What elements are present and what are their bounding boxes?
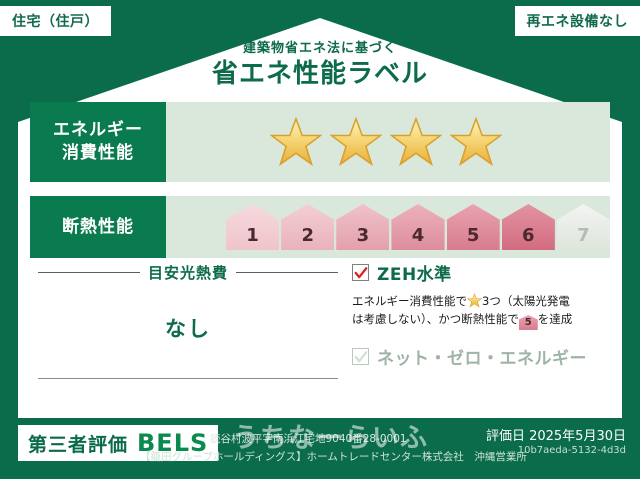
star-icon xyxy=(450,116,502,168)
evaluation-date: 評価日 2025年5月30日 xyxy=(486,425,626,444)
star-icon xyxy=(270,116,322,168)
rule-right xyxy=(236,272,338,273)
insulation-grade-item: 4 xyxy=(391,204,444,250)
insulation-grade-item: 2 xyxy=(281,204,334,250)
title-subtitle: 建築物省エネ法に基づく xyxy=(0,40,640,58)
rule-left xyxy=(38,272,140,273)
badge-building-type: 住宅（住戸） xyxy=(0,6,111,36)
third-party-evaluation-label: 第三者評価 xyxy=(28,430,128,457)
insulation-grade-item: 3 xyxy=(336,204,389,250)
star-icon xyxy=(390,116,442,168)
energy-performance-label: 住宅（住戸） 再エネ設備なし 建築物省エネ法に基づく 省エネ性能ラベル エネルギ… xyxy=(0,0,640,479)
zeh-desc-stars: 3つ（太陽光発電 xyxy=(482,294,570,308)
utility-cost-value: なし xyxy=(38,313,338,343)
net-zero-energy-label: ネット・ゼロ・エネルギー xyxy=(377,344,587,369)
star-icon-inline xyxy=(467,293,482,308)
insulation-grade-item: 6 xyxy=(502,204,555,250)
property-address: 読谷村波平字南浜江宅地9040番28-0001 xyxy=(210,431,407,446)
utility-cost-label: 目安光熱費 xyxy=(148,262,228,283)
insulation-performance-panel: 断熱性能 1 2 3 4 5 6 7 xyxy=(30,196,610,258)
check-icon-muted xyxy=(354,350,368,364)
energy-star-rating xyxy=(180,102,610,182)
insulation-chip-line1: 断熱性能 xyxy=(62,216,134,239)
insulation-grade-item: 1 xyxy=(226,204,279,250)
star-icon xyxy=(330,116,382,168)
insulation-grade-item-inactive: 7 xyxy=(557,204,610,250)
net-zero-energy-row: ネット・ゼロ・エネルギー xyxy=(352,344,608,369)
zeh-standard-label: ZEH水準 xyxy=(377,260,452,285)
zeh-standard-row: ZEH水準 xyxy=(352,260,608,285)
zeh-desc-part1: エネルギー消費性能で xyxy=(352,294,467,308)
utility-cost-section: 目安光熱費 なし xyxy=(38,262,338,343)
label-title-block: 建築物省エネ法に基づく 省エネ性能ラベル xyxy=(0,40,640,90)
insulation-grade-item: 5 xyxy=(447,204,500,250)
badge-renewable-equipment: 再エネ設備なし xyxy=(515,6,640,36)
insulation-performance-chip: 断熱性能 xyxy=(30,196,166,258)
utility-cost-bottom-rule xyxy=(38,378,338,379)
insulation-grade-scale: 1 2 3 4 5 6 7 xyxy=(226,196,610,258)
energy-performance-panel: エネルギー 消費性能 xyxy=(30,102,610,182)
evaluation-id: 10b7aeda-5132-4d3d xyxy=(518,445,626,456)
zeh-section: ZEH水準 エネルギー消費性能で3つ（太陽光発電 は考慮しない）、かつ断熱性能で… xyxy=(352,260,608,369)
insulation-grade-inline: 5 xyxy=(519,315,538,330)
page-title: 省エネ性能ラベル xyxy=(0,58,640,90)
utility-cost-heading: 目安光熱費 xyxy=(38,262,338,283)
energy-performance-chip: エネルギー 消費性能 xyxy=(30,102,166,182)
zeh-desc-part3: を達成 xyxy=(538,312,573,326)
checkbox-zeh-checked xyxy=(352,264,369,281)
energy-chip-line2: 消費性能 xyxy=(62,142,134,165)
zeh-description: エネルギー消費性能で3つ（太陽光発電 は考慮しない）、かつ断熱性能で5を達成 xyxy=(352,292,608,330)
check-icon xyxy=(354,266,368,280)
company-name: 【籠田グループホールディングス】ホームトレードセンター株式会社 沖縄営業所 xyxy=(140,449,527,464)
zeh-desc-part2: は考慮しない）、かつ断熱性能で xyxy=(352,312,519,326)
energy-chip-line1: エネルギー xyxy=(53,119,143,142)
label-footer: 第三者評価 BELS 読谷村波平字南浜江宅地9040番28-0001 【籠田グル… xyxy=(0,419,640,479)
checkbox-net-zero-unchecked xyxy=(352,348,369,365)
